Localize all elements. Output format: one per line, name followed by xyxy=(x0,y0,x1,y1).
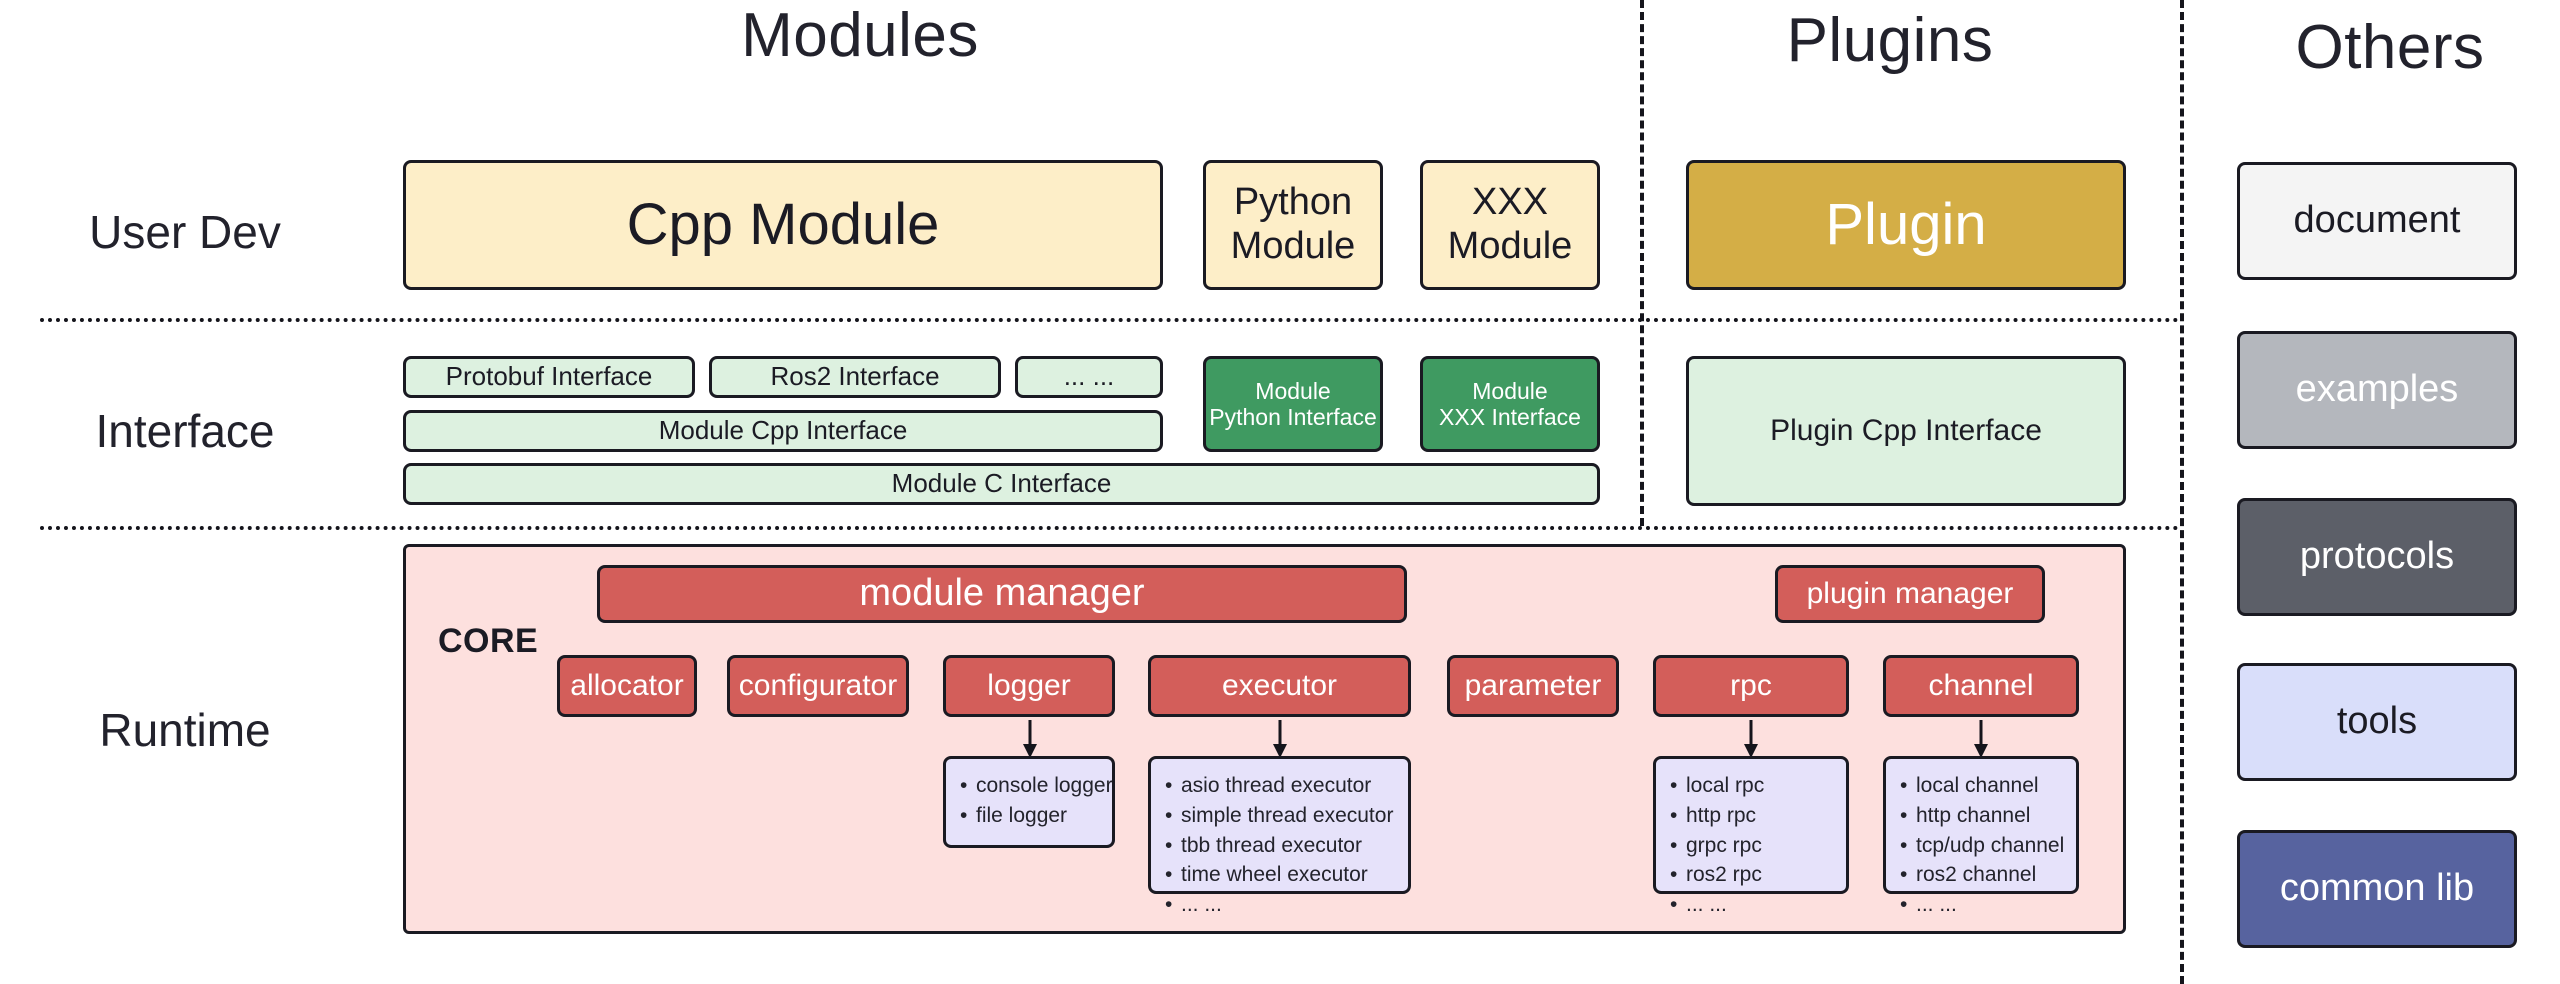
detail-list-item-label: tcp/udp channel xyxy=(1916,831,2064,861)
detail-list-item-label: ros2 rpc xyxy=(1686,860,1762,890)
channel-detail-items: •local channel•http channel•tcp/udp chan… xyxy=(1900,771,2066,920)
detail-list-item: •time wheel executor xyxy=(1165,860,1398,890)
logger-box[interactable]: logger xyxy=(943,655,1115,717)
detail-list-item-label: ... ... xyxy=(1181,890,1222,920)
column-header-plugins: Plugins xyxy=(1680,5,2100,76)
module-python-interface-box[interactable]: Module Python Interface xyxy=(1203,356,1383,452)
bullet-icon: • xyxy=(1670,801,1686,831)
divider-modules-plugins xyxy=(1640,0,1644,526)
detail-list-item-label: tbb thread executor xyxy=(1181,831,1362,861)
executor-detail-list: •asio thread executor•simple thread exec… xyxy=(1148,756,1411,894)
channel-box[interactable]: channel xyxy=(1883,655,2079,717)
executor-arrow-icon xyxy=(1263,718,1297,760)
architecture-diagram: Modules Plugins Others User Dev Interfac… xyxy=(0,0,2560,984)
more-interface-box[interactable]: ... ... xyxy=(1015,356,1163,398)
row-label-interface: Interface xyxy=(20,404,350,458)
channel-detail-list: •local channel•http channel•tcp/udp chan… xyxy=(1883,756,2079,894)
logger-arrow-icon xyxy=(1013,718,1047,760)
detail-list-item: •http rpc xyxy=(1670,801,1836,831)
others-protocols-box[interactable]: protocols xyxy=(2237,498,2517,616)
detail-list-item-label: ... ... xyxy=(1686,890,1727,920)
detail-list-item-label: local rpc xyxy=(1686,771,1764,801)
logger-detail-list: •console logger•file logger xyxy=(943,756,1115,848)
detail-list-item: •http channel xyxy=(1900,801,2066,831)
rpc-detail-items: •local rpc•http rpc•grpc rpc•ros2 rpc•..… xyxy=(1670,771,1836,920)
bullet-icon: • xyxy=(1165,860,1181,890)
detail-list-item-label: asio thread executor xyxy=(1181,771,1371,801)
detail-list-item: •... ... xyxy=(1670,890,1836,920)
rpc-box[interactable]: rpc xyxy=(1653,655,1849,717)
module-c-interface-box[interactable]: Module C Interface xyxy=(403,463,1600,505)
detail-list-item: •tbb thread executor xyxy=(1165,831,1398,861)
configurator-box[interactable]: configurator xyxy=(727,655,909,717)
detail-list-item: •console logger xyxy=(960,771,1102,801)
bullet-icon: • xyxy=(1670,831,1686,861)
module-manager-box[interactable]: module manager xyxy=(597,565,1407,623)
others-examples-box[interactable]: examples xyxy=(2237,331,2517,449)
bullet-icon: • xyxy=(1670,771,1686,801)
plugin-box[interactable]: Plugin xyxy=(1686,160,2126,290)
rpc-arrow-icon xyxy=(1734,718,1768,760)
detail-list-item: •file logger xyxy=(960,801,1102,831)
bullet-icon: • xyxy=(1900,860,1916,890)
bullet-icon: • xyxy=(1165,831,1181,861)
bullet-icon: • xyxy=(1900,801,1916,831)
bullet-icon: • xyxy=(1165,801,1181,831)
detail-list-item: •tcp/udp channel xyxy=(1900,831,2066,861)
protobuf-interface-box[interactable]: Protobuf Interface xyxy=(403,356,695,398)
executor-box[interactable]: executor xyxy=(1148,655,1411,717)
bullet-icon: • xyxy=(960,771,976,801)
detail-list-item-label: console logger xyxy=(976,771,1113,801)
detail-list-item: •simple thread executor xyxy=(1165,801,1398,831)
others-common-lib-box[interactable]: common lib xyxy=(2237,830,2517,948)
python-module-box[interactable]: Python Module xyxy=(1203,160,1383,290)
detail-list-item-label: time wheel executor xyxy=(1181,860,1368,890)
allocator-box[interactable]: allocator xyxy=(557,655,697,717)
column-header-others: Others xyxy=(2230,12,2550,83)
core-label: CORE xyxy=(438,622,538,661)
bullet-icon: • xyxy=(1900,771,1916,801)
detail-list-item: •ros2 channel xyxy=(1900,860,2066,890)
detail-list-item: •ros2 rpc xyxy=(1670,860,1836,890)
parameter-box[interactable]: parameter xyxy=(1447,655,1619,717)
detail-list-item: •asio thread executor xyxy=(1165,771,1398,801)
module-cpp-interface-box[interactable]: Module Cpp Interface xyxy=(403,410,1163,452)
row-label-runtime: Runtime xyxy=(20,703,350,757)
detail-list-item-label: file logger xyxy=(976,801,1067,831)
plugin-cpp-interface-box[interactable]: Plugin Cpp Interface xyxy=(1686,356,2126,506)
ros2-interface-box[interactable]: Ros2 Interface xyxy=(709,356,1001,398)
detail-list-item-label: ... ... xyxy=(1916,890,1957,920)
detail-list-item-label: http rpc xyxy=(1686,801,1756,831)
bullet-icon: • xyxy=(1670,860,1686,890)
xxx-module-box[interactable]: XXX Module xyxy=(1420,160,1600,290)
plugin-manager-box[interactable]: plugin manager xyxy=(1775,565,2045,623)
detail-list-item: •local channel xyxy=(1900,771,2066,801)
divider-interface-runtime xyxy=(40,526,2180,530)
column-header-modules: Modules xyxy=(530,0,1190,71)
detail-list-item: •local rpc xyxy=(1670,771,1836,801)
detail-list-item: •grpc rpc xyxy=(1670,831,1836,861)
executor-detail-items: •asio thread executor•simple thread exec… xyxy=(1165,771,1398,920)
others-document-box[interactable]: document xyxy=(2237,162,2517,280)
detail-list-item: •... ... xyxy=(1165,890,1398,920)
row-label-user-dev: User Dev xyxy=(20,205,350,259)
logger-detail-items: •console logger•file logger xyxy=(960,771,1102,831)
others-tools-box[interactable]: tools xyxy=(2237,663,2517,781)
detail-list-item-label: simple thread executor xyxy=(1181,801,1393,831)
detail-list-item-label: ros2 channel xyxy=(1916,860,2036,890)
divider-plugins-others xyxy=(2180,0,2184,984)
detail-list-item-label: local channel xyxy=(1916,771,2039,801)
rpc-detail-list: •local rpc•http rpc•grpc rpc•ros2 rpc•..… xyxy=(1653,756,1849,894)
detail-list-item: •... ... xyxy=(1900,890,2066,920)
bullet-icon: • xyxy=(960,801,976,831)
divider-user-dev-interface xyxy=(40,318,2180,322)
bullet-icon: • xyxy=(1165,771,1181,801)
channel-arrow-icon xyxy=(1964,718,1998,760)
bullet-icon: • xyxy=(1670,890,1686,920)
detail-list-item-label: http channel xyxy=(1916,801,2030,831)
cpp-module-box[interactable]: Cpp Module xyxy=(403,160,1163,290)
module-xxx-interface-box[interactable]: Module XXX Interface xyxy=(1420,356,1600,452)
bullet-icon: • xyxy=(1900,890,1916,920)
detail-list-item-label: grpc rpc xyxy=(1686,831,1762,861)
bullet-icon: • xyxy=(1900,831,1916,861)
bullet-icon: • xyxy=(1165,890,1181,920)
